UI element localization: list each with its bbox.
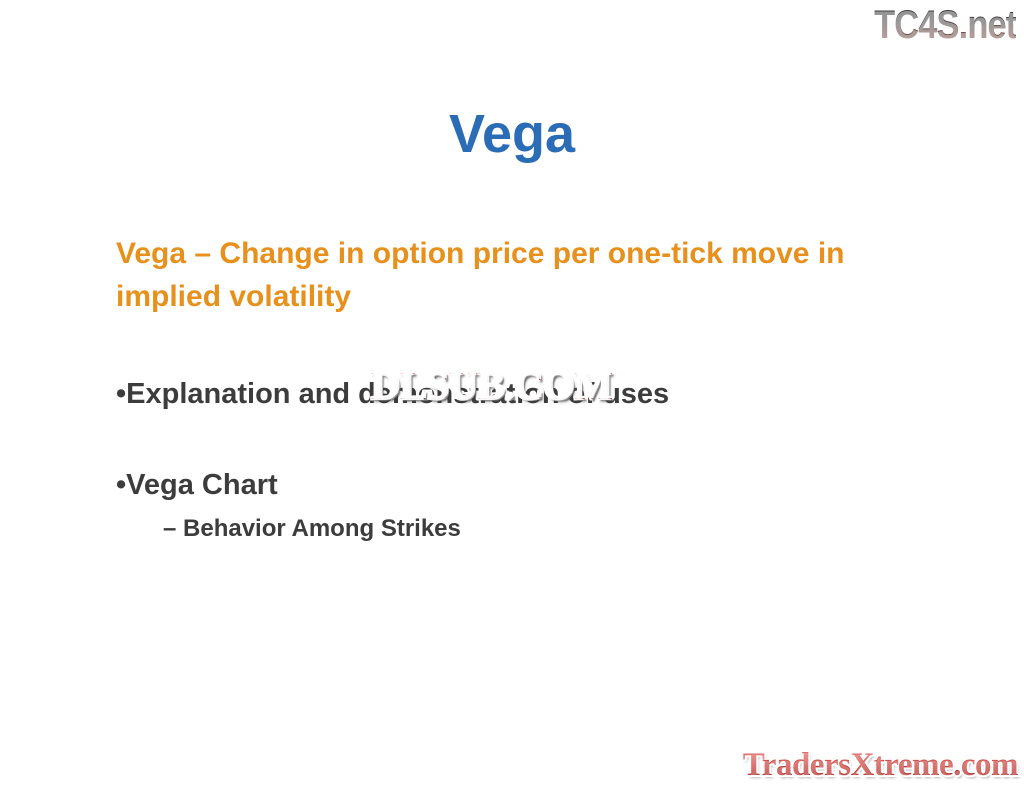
slide-canvas: TC4S.net Vega Vega – Change in option pr… xyxy=(0,0,1024,791)
spacer xyxy=(116,412,916,467)
tc4s-watermark: TC4S.net xyxy=(874,2,1016,48)
spacer xyxy=(116,503,916,513)
list-item: – Behavior Among Strikes xyxy=(116,513,916,545)
list-item: •Vega Chart xyxy=(116,467,916,503)
tradersxtreme-watermark: TradersXtreme.com xyxy=(743,747,1018,783)
page-title: Vega xyxy=(0,103,1024,165)
lead-paragraph: Vega – Change in option price per one-ti… xyxy=(116,232,876,318)
dlsub-watermark: DLSUB.COM xyxy=(371,366,612,406)
